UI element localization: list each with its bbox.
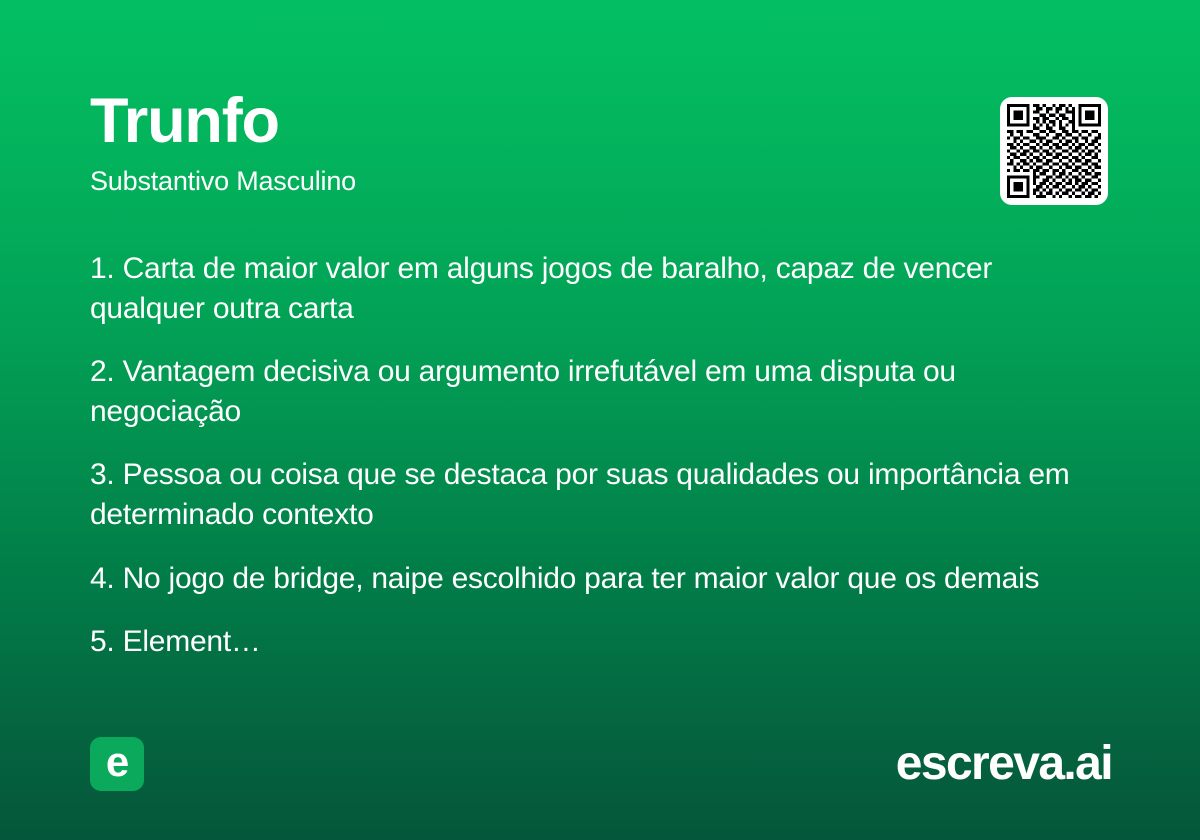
- qr-code-card[interactable]: [1000, 97, 1108, 205]
- definition-list: 1. Carta de maior valor em alguns jogos …: [90, 249, 1102, 662]
- definition-item: 3. Pessoa ou coisa que se destaca por su…: [90, 455, 1102, 534]
- qr-code-icon: [1007, 104, 1101, 198]
- logo-letter: e: [106, 741, 128, 783]
- brand-wordmark: escreva.ai: [896, 740, 1112, 788]
- escreva-logo-icon[interactable]: e: [90, 737, 144, 791]
- definition-item: 1. Carta de maior valor em alguns jogos …: [90, 249, 1102, 328]
- definition-card: Trunfo Substantivo Masculino 1. Carta de…: [0, 0, 1200, 840]
- card-footer: e escreva.ai: [90, 736, 1112, 792]
- definition-item: 2. Vantagem decisiva ou argumento irrefu…: [90, 352, 1102, 431]
- card-header: Trunfo Substantivo Masculino: [90, 88, 1108, 205]
- entry-part-of-speech: Substantivo Masculino: [90, 167, 356, 197]
- entry-headings: Trunfo Substantivo Masculino: [90, 88, 356, 197]
- definition-item: 4. No jogo de bridge, naipe escolhido pa…: [90, 559, 1102, 599]
- definition-item: 5. Element…: [90, 622, 1102, 662]
- entry-word: Trunfo: [90, 90, 356, 153]
